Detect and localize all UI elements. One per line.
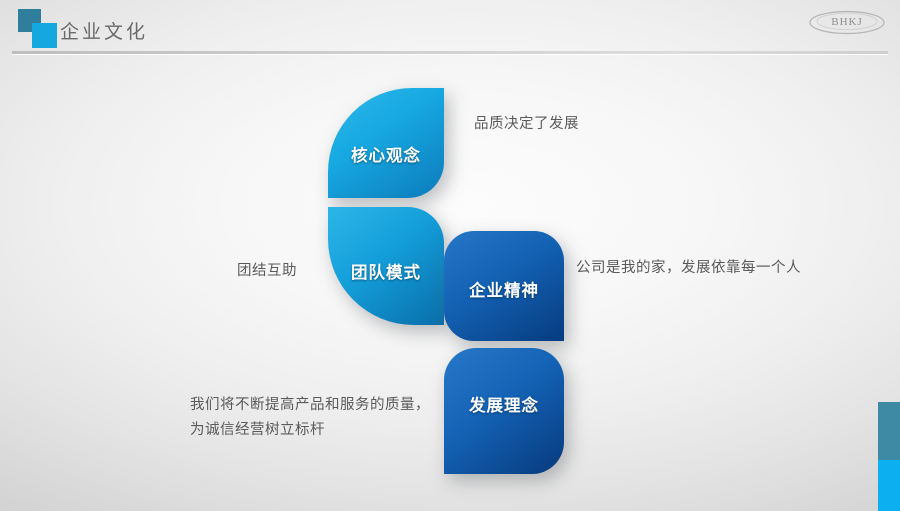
header-divider (12, 51, 888, 55)
brand-logo: BHKJ (808, 9, 886, 36)
edge-accent-teal (878, 402, 900, 460)
edge-accent-cyan (878, 460, 900, 511)
caption-development-philosophy: 我们将不断提高产品和服务的质量，为诚信经营树立标杆 (190, 393, 430, 443)
petal-team-model[interactable]: 团队模式 (328, 207, 444, 325)
petal-development-philosophy[interactable]: 发展理念 (444, 348, 564, 474)
slide-header: 企业文化 BHKJ (0, 0, 900, 54)
caption-enterprise-spirit: 公司是我的家，发展依靠每一个人 (576, 256, 801, 281)
petal-core-concept[interactable]: 核心观念 (328, 88, 444, 198)
petal-enterprise-spirit[interactable]: 企业精神 (444, 231, 564, 341)
brand-logo-text: BHKJ (808, 9, 886, 36)
slide-canvas: 企业文化 BHKJ 核心观念 (0, 0, 900, 511)
header-square-bright-icon (32, 23, 57, 48)
caption-team-model: 团结互助 (237, 259, 297, 284)
caption-core-concept: 品质决定了发展 (474, 112, 579, 137)
page-title: 企业文化 (60, 17, 148, 44)
